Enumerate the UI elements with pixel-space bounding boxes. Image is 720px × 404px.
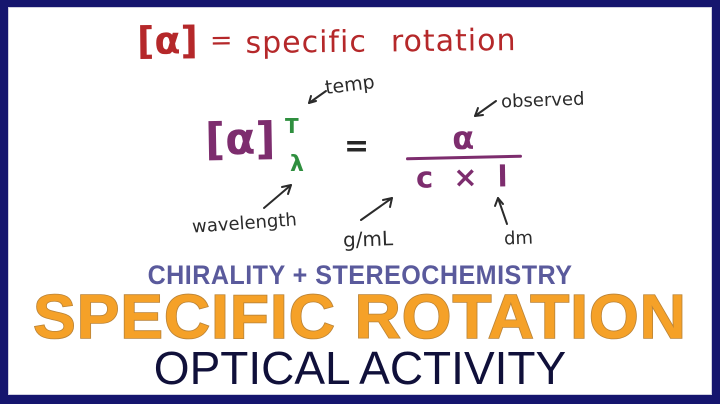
fraction-numerator-alpha: α [404,123,524,153]
arrow-dm [498,198,507,224]
title-block: CHIRALITY + STEREOCHEMISTRY SPECIFIC ROT… [9,260,711,392]
red-definition-line: [α]=specificrotation [137,18,517,61]
red-label-rotation: rotation [391,23,517,59]
fraction-denominator: c × l [404,161,524,193]
arrow-wavelength [264,185,291,208]
annotation-observed: observed [501,89,585,113]
formula-subscript-lambda: λ [290,154,304,176]
formula-fraction: α c × l [404,123,525,193]
formula-bracket-alpha: [α] [205,117,276,162]
formula-equals-sign: = [344,132,369,162]
annotation-concentration-units: g/mL [343,226,394,252]
video-thumbnail-frame: [α]=specificrotation [α] T λ = α c × l t… [0,0,720,404]
annotation-wavelength: wavelength [191,209,297,237]
whiteboard-canvas: [α]=specificrotation [α] T λ = α c × l t… [9,8,711,394]
title-headline: SPECIFIC ROTATION [9,288,711,348]
formula-superscript-temperature: T [285,116,299,136]
red-equals-sign: = [198,25,246,56]
annotation-path-length-units: dm [504,228,534,250]
red-bracket-alpha: [α] [137,18,198,63]
arrow-observed [475,101,496,116]
red-label-specific: specific [245,25,367,61]
annotation-temp: temp [324,71,376,99]
arrow-gml [361,198,392,220]
title-subhead: OPTICAL ACTIVITY [9,344,711,392]
arrow-temp [309,91,326,103]
